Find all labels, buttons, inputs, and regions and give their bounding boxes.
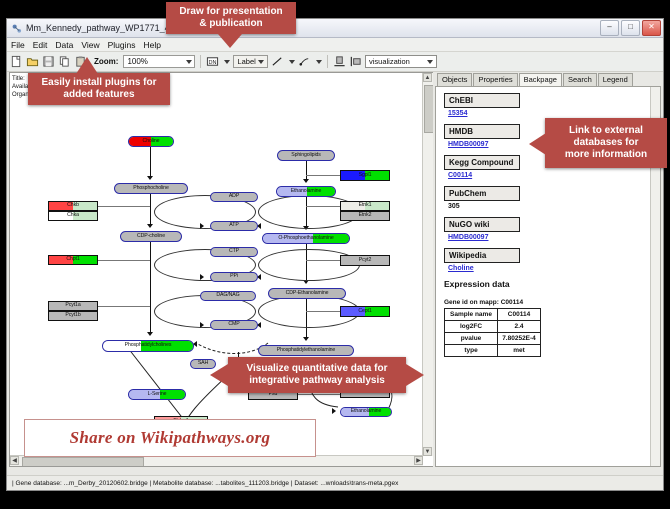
gene-connector [306, 206, 340, 207]
svg-text:DN: DN [209, 60, 217, 66]
gene-node[interactable]: Chka [48, 211, 98, 221]
arrowhead-right [200, 223, 204, 229]
database-header-wikipedia: Wikipedia [444, 248, 520, 263]
gene-node[interactable]: Pcyt1b [48, 311, 98, 321]
metabolite-node[interactable]: Ethanolamine [340, 407, 392, 417]
scroll-up-icon[interactable]: ▲ [423, 73, 432, 82]
callout-draw-for-publication: Draw for presentation & publication [166, 2, 296, 34]
database-link-chebi[interactable]: 15354 [448, 110, 660, 117]
title-bar: Mm_Kennedy_pathway_WP1771_45176.gpml – □… [7, 19, 663, 38]
metabolite-node[interactable]: Sphingolipids [277, 150, 335, 161]
tab-backpage[interactable]: Backpage [519, 73, 562, 87]
table-row: pvalue7.80252E-4 [445, 333, 541, 345]
menu-item-file[interactable]: File [11, 40, 25, 50]
callout-plugins-line2: added features [63, 89, 134, 101]
table-cell-value: 7.80252E-4 [498, 333, 541, 345]
node-label: Etnk2 [359, 213, 372, 218]
close-button[interactable]: ✕ [642, 20, 661, 36]
menu-item-plugins[interactable]: Plugins [108, 40, 136, 50]
gene-node[interactable]: Chpt1 [48, 255, 98, 265]
tab-search[interactable]: Search [563, 73, 597, 86]
callout-visualize-pointer-left [210, 364, 228, 386]
node-label: Pcyt2 [359, 258, 371, 263]
metabolite-node[interactable]: O-Phosphoethanolamine [262, 233, 350, 244]
callout-external-links: Link to external databases for more info… [545, 118, 667, 168]
new-file-icon[interactable] [10, 55, 23, 68]
database-header-kegg-compound: Kegg Compound [444, 155, 520, 170]
node-label: CTP [229, 249, 239, 254]
tab-properties[interactable]: Properties [473, 73, 517, 86]
node-label: Phosphatidylcholines [125, 343, 172, 348]
share-text: Share on Wikipathways.org [70, 428, 271, 448]
open-folder-icon[interactable] [26, 55, 39, 68]
node-label: CDP-choline [137, 234, 165, 239]
callout-draw-line2: & publication [199, 18, 262, 30]
datanode-icon[interactable]: DN [206, 55, 219, 68]
table-row: log2FC2.4 [445, 321, 541, 333]
tab-objects[interactable]: Objects [437, 73, 472, 86]
gene-node[interactable]: Pcyt2 [340, 255, 390, 266]
callout-share-wikipathways: Share on Wikipathways.org [24, 419, 316, 457]
gene-connector [306, 175, 340, 176]
datanode-dropdown-icon[interactable] [224, 60, 230, 64]
scroll-right-icon[interactable]: ▶ [414, 456, 423, 465]
database-header-nugo-wiki: NuGO wiki [444, 217, 520, 232]
toolbar: Zoom: 100% DN Label [7, 52, 663, 72]
node-label: PPi [230, 274, 238, 279]
edge-choline-phosphocholine [150, 147, 151, 177]
menu-item-view[interactable]: View [81, 40, 99, 50]
vertical-scroll-thumb[interactable] [424, 85, 433, 133]
node-label: Ethanolamine [291, 189, 322, 194]
table-cell-key: pvalue [445, 333, 498, 345]
metabolite-node[interactable]: CMP [210, 320, 258, 330]
horizontal-scroll-thumb[interactable] [22, 457, 144, 467]
callout-links-line2: databases for [573, 137, 638, 149]
line-dropdown-icon[interactable] [289, 60, 295, 64]
edge-sphingolipids-ethanolamine [306, 161, 307, 181]
table-cell-value: C00114 [498, 309, 541, 321]
callout-links-pointer [529, 133, 546, 155]
arrowhead-down [147, 176, 153, 180]
database-link-wikipedia[interactable]: Choline [448, 265, 660, 272]
metabolite-node[interactable]: ADP [210, 192, 258, 202]
gene-node[interactable]: Etnk2 [340, 211, 390, 221]
zoom-value: 100% [127, 57, 147, 66]
expression-data-title: Expression data [444, 279, 660, 289]
scroll-left-icon[interactable]: ◀ [10, 456, 19, 465]
callout-install-plugins: Easily install plugins for added feature… [28, 73, 170, 105]
node-label: Chpt1 [66, 257, 79, 262]
node-label: Phosphatidylethanolamine [277, 348, 335, 353]
visualization-combobox[interactable]: visualization [365, 55, 437, 68]
gene-connector [98, 260, 150, 261]
database-header-hmdb: HMDB [444, 124, 520, 139]
anchor-dropdown-icon[interactable] [316, 60, 322, 64]
metabolite-node[interactable]: L-Serine [128, 389, 186, 400]
gene-node[interactable]: Etnk1 [340, 201, 390, 211]
table-cell-key: Sample name [445, 309, 498, 321]
gene-node[interactable]: Chkb [48, 201, 98, 211]
database-link-kegg-compound[interactable]: C00114 [448, 172, 660, 179]
chevron-down-icon [258, 60, 264, 64]
arrowhead-right [332, 408, 336, 414]
edge-phosphocholine-cdpcholine [150, 194, 151, 225]
metabolite-node[interactable]: Phosphocholine [114, 183, 188, 194]
pathway-canvas[interactable]: Title: Availa Organi [9, 72, 433, 467]
metabolite-node[interactable]: CTP [210, 247, 258, 257]
gene-id-line: Gene id on mapp: C00114 [444, 299, 660, 306]
node-label: Pcyt1a [65, 303, 80, 308]
arrowhead-down [147, 224, 153, 228]
metabolite-node[interactable]: Ethanolamine [276, 186, 336, 197]
table-cell-key: log2FC [445, 321, 498, 333]
callout-visualize-data: Visualize quantitative data for integrat… [228, 357, 406, 393]
table-row: Sample nameC00114 [445, 309, 541, 321]
label-dropdown[interactable]: Label [233, 55, 267, 68]
node-label: Sgpl1 [359, 173, 372, 178]
table-cell-value: met [498, 345, 541, 357]
tab-legend[interactable]: Legend [598, 73, 633, 86]
menu-item-edit[interactable]: Edit [33, 40, 48, 50]
zoom-combobox[interactable]: 100% [123, 55, 195, 68]
gene-node[interactable]: Cept1 [340, 306, 390, 317]
align-left-icon[interactable] [349, 55, 362, 68]
node-label: Chka [67, 213, 79, 218]
gene-connector [98, 206, 150, 207]
metabolite-node[interactable]: Choline [128, 136, 174, 147]
chevron-down-icon [427, 60, 433, 64]
callout-links-line3: more information [565, 149, 647, 161]
arrowhead-right [200, 274, 204, 280]
expression-data-table: Sample nameC00114log2FC2.4pvalue7.80252E… [444, 308, 541, 357]
table-cell-value: 2.4 [498, 321, 541, 333]
callout-links-line1: Link to external [569, 125, 643, 137]
copy-icon[interactable] [58, 55, 71, 68]
maximize-button[interactable]: □ [621, 20, 640, 36]
metabolite-node[interactable]: ATP [210, 221, 258, 231]
callout-visualize-pointer-right [406, 364, 424, 386]
metabolite-node[interactable]: Phosphatidylethanolamine [258, 345, 354, 356]
node-label: Sphingolipids [291, 153, 321, 158]
metabolite-node[interactable]: PPi [210, 272, 258, 282]
gene-connector [306, 311, 340, 312]
arrowhead-right [200, 322, 204, 328]
table-row: typemet [445, 345, 541, 357]
gene-connector [98, 306, 150, 307]
metabolite-node[interactable]: CDP-Ethanolamine [268, 288, 346, 299]
node-label: Choline [143, 139, 160, 144]
node-label: CMP [228, 322, 239, 327]
metabolite-node[interactable]: CDP-choline [120, 231, 182, 242]
node-label: L-Serine [148, 392, 167, 397]
callout-plugins-line1: Easily install plugins for [41, 77, 156, 89]
node-label: Cept1 [358, 309, 371, 314]
pathvisio-icon [11, 23, 22, 34]
arrowhead-down [303, 179, 309, 183]
callout-draw-line1: Draw for presentation [179, 6, 282, 18]
callout-draw-pointer [218, 34, 242, 48]
node-label: Etnk1 [359, 203, 372, 208]
anchor-tool-icon[interactable] [298, 55, 311, 68]
visualization-value: visualization [369, 57, 410, 66]
table-cell-key: type [445, 345, 498, 357]
menu-item-help[interactable]: Help [144, 40, 161, 50]
node-label: Ethanolamine [351, 409, 382, 414]
gene-node[interactable]: Pcyt1a [48, 301, 98, 311]
callout-plugins-pointer [76, 57, 98, 74]
node-label: DAG/NAG [216, 293, 239, 298]
menu-bar: File Edit Data View Plugins Help [7, 38, 663, 52]
arrowhead-down [303, 337, 309, 341]
screenshot-root: Mm_Kennedy_pathway_WP1771_45176.gpml – □… [0, 0, 670, 509]
metabolite-node[interactable]: DAG/NAG [200, 291, 256, 301]
node-label: Chkb [67, 203, 79, 208]
edge-cdpcholine-ptdcholine [150, 242, 151, 334]
database-value-pubchem: 305 [448, 203, 660, 210]
gene-node[interactable]: Sgpl1 [340, 170, 390, 181]
status-bar: | Gene database: ...m_Derby_20120602.bri… [7, 475, 663, 490]
database-link-nugo-wiki[interactable]: HMDB00097 [448, 234, 660, 241]
toolbar-separator [327, 55, 328, 68]
node-label: ATP [229, 223, 238, 228]
canvas-vertical-scrollbar[interactable]: ▲ ▼ [422, 73, 433, 456]
window-controls: – □ ✕ [600, 20, 661, 36]
menu-item-data[interactable]: Data [55, 40, 73, 50]
label-dropdown-text: Label [237, 57, 255, 66]
node-label: Pcyt1b [65, 313, 80, 318]
callout-visualize-line2: integrative pathway analysis [249, 375, 385, 387]
save-icon[interactable] [42, 55, 55, 68]
metabolite-node[interactable]: Phosphatidylcholines [102, 340, 194, 352]
node-label: ADP [229, 194, 239, 199]
chevron-down-icon [186, 60, 192, 64]
side-panel-tabs: ObjectsPropertiesBackpageSearchLegend [435, 72, 661, 86]
status-bar-text: | Gene database: ...m_Derby_20120602.bri… [12, 480, 398, 487]
node-label: Phosphocholine [133, 186, 169, 191]
node-label: SAH [198, 361, 208, 366]
node-label: O-Phosphoethanolamine [278, 236, 333, 241]
scroll-down-icon[interactable]: ▼ [423, 447, 432, 456]
callout-visualize-line1: Visualize quantitative data for [247, 363, 388, 375]
arrowhead-down [147, 332, 153, 336]
gene-connector [306, 260, 340, 261]
toolbar-separator [200, 55, 201, 68]
node-label: CDP-Ethanolamine [286, 291, 329, 296]
minimize-button[interactable]: – [600, 20, 619, 36]
database-header-chebi: ChEBI [444, 93, 520, 108]
database-header-pubchem: PubChem [444, 186, 520, 201]
line-tool-icon[interactable] [271, 55, 284, 68]
align-bottom-icon[interactable] [333, 55, 346, 68]
